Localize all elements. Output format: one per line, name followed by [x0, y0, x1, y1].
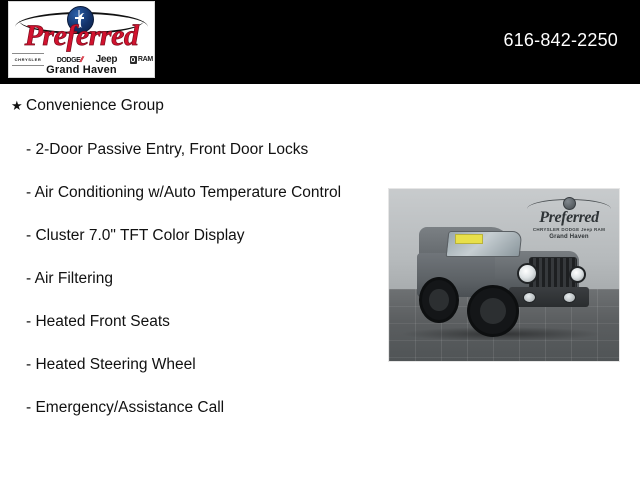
dodge-logo-icon: DODGE// — [57, 55, 83, 65]
logo-city-name: Grand Haven — [9, 64, 154, 76]
ram-logo-icon: RAM — [130, 55, 153, 64]
feature-group-title: Convenience Group — [26, 95, 164, 117]
page-header: Preferred CHRYSLER DODGE// Jeep RAM Gran… — [0, 0, 640, 84]
headlight-icon — [517, 263, 538, 284]
dealer-logo[interactable]: Preferred CHRYSLER DODGE// Jeep RAM Gran… — [8, 1, 155, 78]
vehicle-rear-wheel — [419, 277, 459, 323]
feature-item: - Air Conditioning w/Auto Temperature Co… — [26, 160, 356, 203]
vehicle-front-wheel — [467, 285, 519, 337]
star-bullet-icon: ★ — [11, 95, 26, 117]
feature-item: - Air Filtering — [26, 246, 356, 289]
logo-brand-name: Preferred — [9, 20, 154, 52]
ram-head-icon — [130, 56, 137, 64]
feature-item: - Cluster 7.0" TFT Color Display — [26, 203, 356, 246]
feature-item: - Heated Steering Wheel — [26, 332, 356, 375]
feature-list: ★ Convenience Group - 2-Door Passive Ent… — [0, 84, 380, 418]
ram-label: RAM — [138, 55, 153, 64]
watermark-brand-name: Preferred — [525, 210, 613, 226]
jeep-logo-icon: Jeep — [96, 55, 118, 64]
feature-group-heading: ★ Convenience Group — [0, 84, 380, 117]
watermark-emblem-icon — [563, 197, 576, 210]
feature-item: - Heated Front Seats — [26, 289, 356, 332]
dodge-label: DODGE — [57, 57, 81, 64]
watermark-brand-marques: CHRYSLER DODGE Jeep RAM — [525, 226, 613, 233]
photo-watermark-logo: Preferred CHRYSLER DODGE Jeep RAM Grand … — [525, 197, 613, 242]
feature-item: - Emergency/Assistance Call — [26, 375, 356, 418]
window-sticker — [455, 234, 483, 244]
watermark-city-name: Grand Haven — [525, 233, 613, 242]
fog-light-icon — [563, 292, 576, 303]
fog-light-icon — [523, 292, 536, 303]
feature-item: - 2-Door Passive Entry, Front Door Locks — [26, 117, 356, 160]
vehicle-photo[interactable]: Preferred CHRYSLER DODGE Jeep RAM Grand … — [388, 188, 620, 362]
dealer-phone-number[interactable]: 616-842-2250 — [504, 30, 619, 51]
vehicle-front-bumper — [509, 287, 589, 307]
headlight-icon — [569, 266, 586, 283]
